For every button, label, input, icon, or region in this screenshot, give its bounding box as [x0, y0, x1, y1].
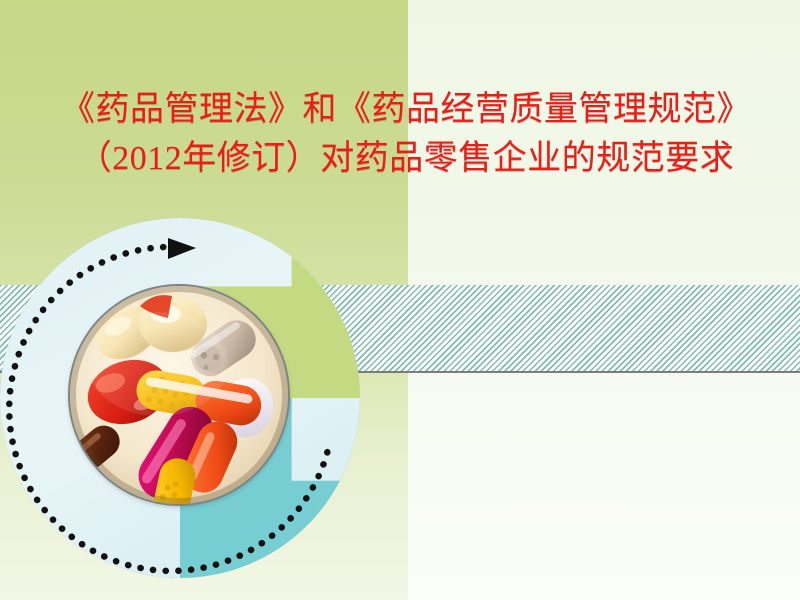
- title-line-2: （2012年修订）对药品零售企业的规范要求: [56, 135, 756, 184]
- page-title: 《药品管理法》和《药品经营质量管理规范》 （2012年修订）对药品零售企业的规范…: [56, 86, 756, 184]
- title-line-1: 《药品管理法》和《药品经营质量管理规范》: [56, 86, 756, 135]
- presentation-slide: L O: [0, 0, 800, 600]
- pill-photo-disc: L O: [70, 286, 288, 504]
- pill-photo-image: L O: [70, 286, 288, 504]
- circle-graphic: L O: [0, 213, 390, 585]
- ring-clip: L O: [0, 218, 360, 578]
